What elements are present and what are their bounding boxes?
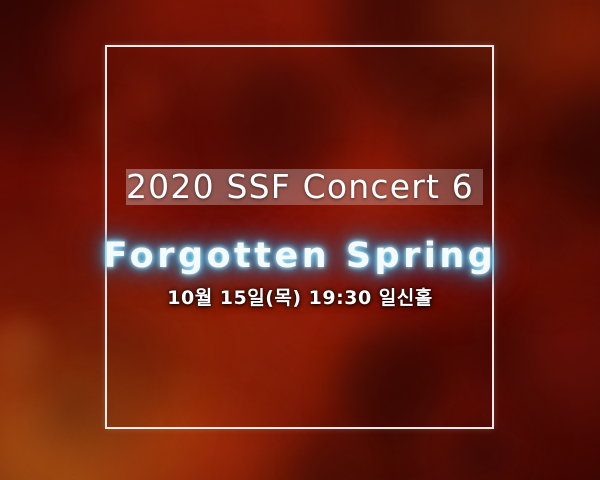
poster-frame-border <box>105 45 494 429</box>
concert-poster: 2020 SSF Concert 6 Forgotten Spring 10월 … <box>0 0 600 480</box>
